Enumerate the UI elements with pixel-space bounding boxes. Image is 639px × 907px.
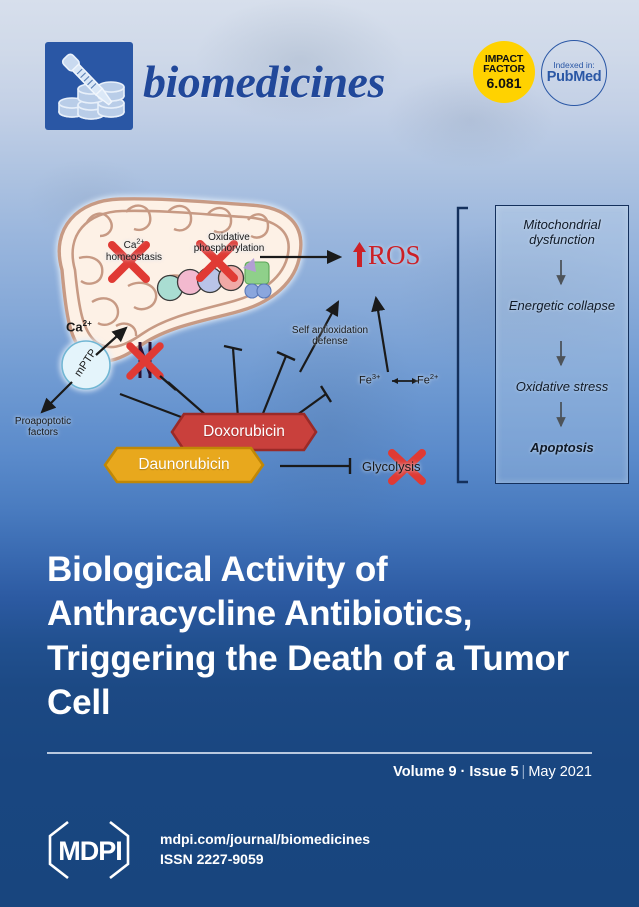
iron-equilibrium-arrow [392, 378, 418, 384]
cascade-step-3: Apoptosis [496, 441, 628, 456]
svg-text:MDPI: MDPI [58, 836, 122, 866]
proapoptotic-line1: Proapoptotic [15, 416, 71, 427]
indexed-database: PubMed [547, 70, 602, 85]
pipette-petri-dish-icon [45, 42, 133, 130]
cascade-step-0: Mitochondrial dysfunction [496, 218, 628, 248]
title-divider [47, 752, 592, 754]
up-arrow-increase-icon [352, 241, 367, 268]
journal-issn: ISSN 2227-9059 [160, 849, 370, 869]
volume-issue-dot: · [457, 764, 470, 780]
cover-article-title: Biological Activity of Anthracycline Ant… [47, 548, 592, 726]
cascade-panel: Mitochondrial dysfunction Energetic coll… [495, 205, 629, 484]
mdpi-logo: MDPI [44, 819, 136, 881]
antioxidation-line1: Self antioxidation [292, 325, 368, 336]
label-calcium-ion: Ca2+ [66, 320, 92, 335]
antioxidation-line2: defense [312, 336, 348, 347]
calcium-homeostasis-line2: homeostasis [106, 252, 162, 263]
impact-factor-badge: IMPACT FACTOR 6.081 [473, 41, 535, 103]
cross-out-membrane-potential [130, 346, 160, 376]
volume-date-separator: | [519, 764, 529, 780]
label-calcium-homeostasis: Ca2+ homeostasis [82, 239, 186, 263]
impact-factor-line2: FACTOR [483, 64, 525, 75]
cover-figure: Oxidative phosphorylation Ca2+ homeostas… [0, 150, 639, 510]
footer-text: mdpi.com/journal/biomedicines ISSN 2227-… [160, 829, 370, 870]
issue-date: May 2021 [528, 764, 592, 780]
atp-synthase-icon [243, 258, 271, 298]
issue-number: Issue 5 [469, 764, 518, 780]
label-proapoptotic-factors: Proapoptotic factors [4, 416, 82, 438]
label-iron-ferrous: Fe2+ [417, 373, 438, 387]
proapoptotic-line2: factors [28, 427, 58, 438]
cascade-step-1: Energetic collapse [496, 299, 628, 314]
journal-logo [45, 42, 133, 130]
journal-title: biomedicines [143, 55, 385, 108]
cover-header: biomedicines IMPACT FACTOR 6.081 Indexed… [0, 0, 639, 150]
volume-number: Volume 9 [393, 764, 456, 780]
daunorubicin-label: Daunorubicin [103, 446, 265, 484]
journal-cover: biomedicines IMPACT FACTOR 6.081 Indexed… [0, 0, 639, 907]
label-iron-ferric: Fe3+ [359, 373, 380, 387]
summary-bracket [458, 208, 468, 482]
cascade-step-2: Oxidative stress [496, 380, 628, 395]
pubmed-indexed-badge: Indexed in: PubMed [541, 40, 607, 106]
cover-footer: MDPI mdpi.com/journal/biomedicines ISSN … [0, 805, 639, 907]
label-glycolysis: Glycolysis [362, 460, 421, 475]
volume-issue-line: Volume 9·Issue 5|May 2021 [47, 764, 592, 780]
mdpi-hexagon-logo: MDPI [44, 819, 136, 881]
proapoptotic-release-arrow [42, 382, 72, 412]
ros-text: ROS [368, 240, 421, 270]
oxphos-line1: Oxidative [208, 232, 250, 243]
journal-url[interactable]: mdpi.com/journal/biomedicines [160, 829, 370, 849]
oxphos-line2: phosphorylation [194, 243, 265, 254]
label-self-antioxidation-defense: Self antioxidation defense [272, 325, 388, 347]
drug-daunorubicin: Daunorubicin [103, 446, 265, 489]
calcium-homeostasis-line1: Ca2+ [124, 240, 145, 251]
label-ros: ROS [352, 240, 421, 271]
impact-factor-value: 6.081 [486, 76, 521, 90]
label-oxidative-phosphorylation: Oxidative phosphorylation [174, 232, 284, 254]
